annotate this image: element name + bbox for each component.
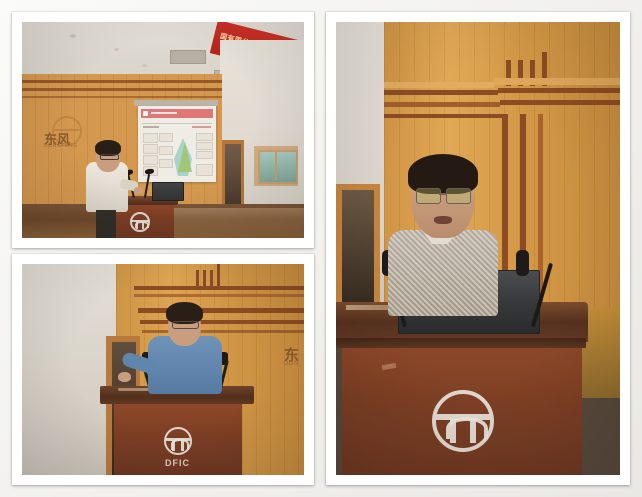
photo-right xyxy=(336,22,620,475)
window-glass xyxy=(258,150,298,184)
podium-emblem-text-bl: DFIC xyxy=(165,458,190,468)
photo-frame-right[interactable] xyxy=(326,12,630,485)
slide-box-m1 xyxy=(159,133,173,142)
speaker-lens-left xyxy=(416,188,441,204)
wall-cornice-right xyxy=(494,78,620,85)
slide-box-l2 xyxy=(143,144,158,154)
podium-dongfeng-emblem-bl xyxy=(164,427,192,455)
wall-trim-r3 xyxy=(384,114,502,118)
ceiling-light-1 xyxy=(70,34,76,38)
wall-trim-bl-1 xyxy=(134,286,304,290)
podium-dongfeng-emblem xyxy=(130,212,150,232)
wall-trim-r4 xyxy=(498,88,620,93)
slide-box-l1 xyxy=(143,133,158,143)
wall-slot-4 xyxy=(217,264,220,288)
wall-slot-2 xyxy=(203,270,206,286)
laptop-top-left xyxy=(152,182,184,201)
slide-rule-1 xyxy=(142,123,212,124)
slide-box-r1 xyxy=(196,133,213,141)
wall-trim-2 xyxy=(22,88,222,91)
wall-trim-bl-3 xyxy=(138,308,304,313)
wall-trim-bl-4 xyxy=(140,320,304,324)
speaker-mouth-right xyxy=(434,216,452,224)
wall-trim-r1 xyxy=(384,90,498,95)
window-mullion xyxy=(275,150,277,180)
wall-logo-english-bl: DON xyxy=(284,361,299,367)
wall-trim-3 xyxy=(22,96,222,98)
photo-frame-top-left[interactable]: 国有限公司 东风 DONGFENG xyxy=(12,12,314,248)
wall-logo-english: DONGFENG xyxy=(44,143,78,149)
slide-header-title xyxy=(151,112,177,114)
slide-box-l3 xyxy=(143,155,158,165)
floor-reflection xyxy=(172,208,304,238)
wall-slot-1 xyxy=(196,270,199,286)
wall-trim-r2 xyxy=(384,102,500,107)
collage-canvas: 国有限公司 东风 DONGFENG xyxy=(0,0,642,497)
speaker-glasses-top-left xyxy=(100,154,119,160)
slide-box-r3 xyxy=(196,151,213,159)
photo-top-left: 国有限公司 东风 DONGFENG xyxy=(22,22,304,238)
wall-trim-r5 xyxy=(500,100,620,105)
slide-label-left xyxy=(143,126,159,128)
slide-header-icon xyxy=(143,111,148,116)
podium-front-edge-right xyxy=(336,338,586,348)
slide-box-m3 xyxy=(159,159,173,168)
slide-box-m2 xyxy=(159,146,173,155)
speaker-lens-right xyxy=(446,188,471,204)
wall-trim-1 xyxy=(22,80,222,83)
slide-box-r4 xyxy=(196,164,213,176)
side-door-opening xyxy=(342,190,374,304)
slide-label-right xyxy=(192,126,211,128)
wall-slot-3 xyxy=(210,270,213,286)
speaker-glasses-bridge xyxy=(439,193,446,195)
speaker-trousers xyxy=(96,210,116,238)
ceiling-vent-1 xyxy=(170,50,206,64)
wall-trim-bl-5 xyxy=(142,330,304,333)
speaker-glasses-bottom-left xyxy=(172,321,199,329)
podium-dongfeng-emblem-right xyxy=(432,390,494,452)
photo-bottom-left: 东 DON DFIC xyxy=(22,264,304,475)
slide-box-r2 xyxy=(196,142,213,150)
ceiling-light-2 xyxy=(114,48,119,51)
ceiling-light-3 xyxy=(142,64,147,67)
wall-trim-bl-2 xyxy=(134,294,304,297)
speaker-hand-left-bl xyxy=(118,372,131,382)
microphone-head-right-right-panel xyxy=(516,250,529,276)
wall-cornice xyxy=(384,82,494,88)
photo-frame-bottom-left[interactable]: 东 DON DFIC xyxy=(12,254,314,485)
speaker-hand xyxy=(134,187,143,194)
